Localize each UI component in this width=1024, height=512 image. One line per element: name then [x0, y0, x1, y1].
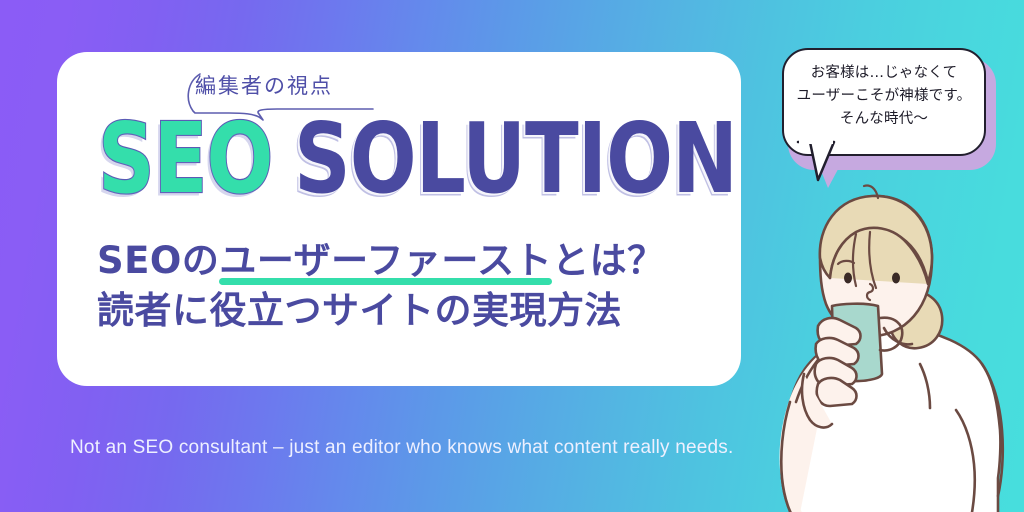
kicker-label: 編集者の視点: [195, 70, 333, 100]
subtitle-underlined-text: ユーザーファースト: [219, 239, 552, 282]
subtitle-suffix: とは？: [552, 239, 665, 282]
speech-bubble-line-1: お客様は…じゃなくて: [782, 62, 986, 85]
speech-bubble-text: お客様は…じゃなくて ユーザーこそが神様です。 そんな時代〜: [782, 62, 986, 131]
speech-bubble: お客様は…じゃなくて ユーザーこそが神様です。 そんな時代〜: [772, 40, 1002, 185]
subtitle-underlined-phrase: ユーザーファースト: [219, 236, 552, 286]
banner-canvas: 編集者の視点 SEOSOLUTION SEOのユーザーファーストとは？ 読者に役…: [0, 0, 1024, 512]
headline: SEOSOLUTION: [98, 108, 755, 198]
headline-main-word: SOLUTION: [294, 108, 737, 212]
subtitle-underline-bar: [219, 278, 552, 285]
speech-bubble-line-2: ユーザーこそが神様です。: [782, 85, 986, 108]
subtitle-prefix: SEOの: [97, 239, 219, 282]
headline-accent-word: SEO: [98, 108, 273, 212]
subtitle-line-1: SEOのユーザーファーストとは？: [97, 236, 697, 286]
subtitle-block: SEOのユーザーファーストとは？ 読者に役立つサイトの実現方法: [97, 236, 697, 336]
woman-drinking-mug-illustration: [760, 178, 1024, 512]
subtitle-line-2: 読者に役立つサイトの実現方法: [97, 286, 697, 336]
tagline: Not an SEO consultant – just an editor w…: [70, 437, 733, 459]
speech-bubble-line-3: そんな時代〜: [782, 108, 986, 131]
